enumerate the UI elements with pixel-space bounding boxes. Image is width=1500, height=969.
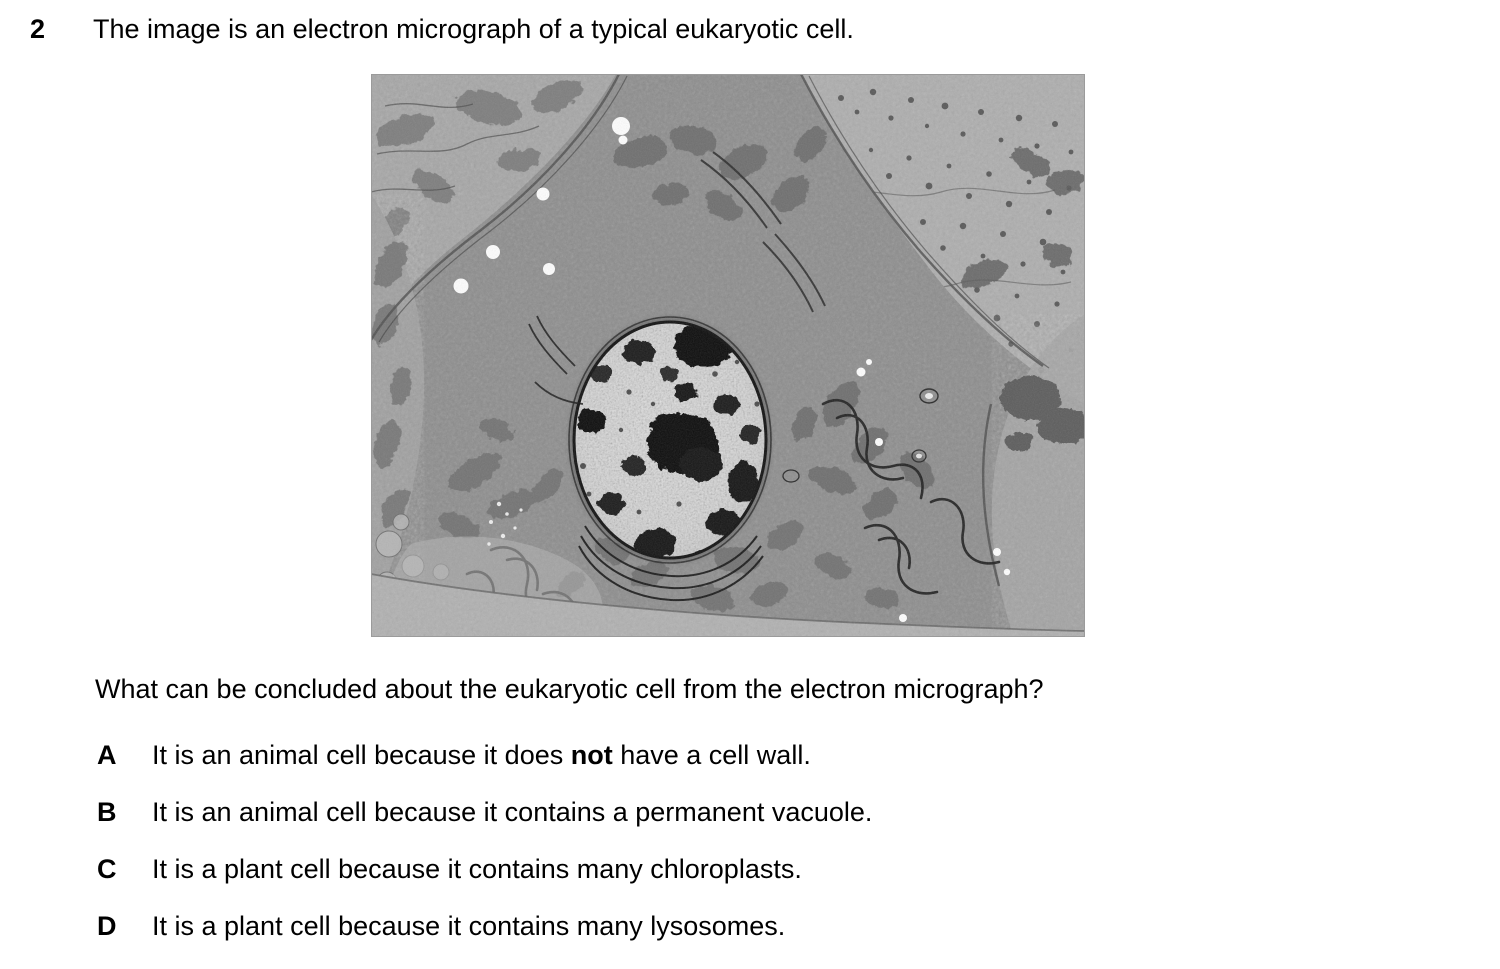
option-letter-d: D: [97, 909, 152, 943]
answer-option-d[interactable]: D It is a plant cell because it contains…: [0, 909, 1500, 966]
option-a-emphasis: not: [571, 740, 613, 770]
option-text-a: It is an animal cell because it does not…: [152, 738, 811, 772]
question-number: 2: [30, 12, 93, 46]
option-a-text-after: have a cell wall.: [613, 740, 811, 770]
answer-option-c[interactable]: C It is a plant cell because it contains…: [0, 852, 1500, 909]
option-a-text-before: It is an animal cell because it does: [152, 740, 571, 770]
answer-option-a[interactable]: A It is an animal cell because it does n…: [0, 738, 1500, 795]
option-b-text-before: It is an animal cell because it contains…: [152, 797, 872, 827]
option-text-c: It is a plant cell because it contains m…: [152, 852, 802, 886]
option-d-text-before: It is a plant cell because it contains m…: [152, 911, 785, 941]
answer-option-b[interactable]: B It is an animal cell because it contai…: [0, 795, 1500, 852]
question-stem-row: 2 The image is an electron micrograph of…: [0, 12, 1500, 48]
lead-in-question: What can be concluded about the eukaryot…: [95, 672, 1044, 706]
question-stem-text: The image is an electron micrograph of a…: [93, 12, 854, 46]
answer-options-list: A It is an animal cell because it does n…: [0, 738, 1500, 966]
micrograph-figure: [371, 74, 1085, 637]
option-text-d: It is a plant cell because it contains m…: [152, 909, 785, 943]
option-letter-b: B: [97, 795, 152, 829]
option-text-b: It is an animal cell because it contains…: [152, 795, 872, 829]
option-c-text-before: It is a plant cell because it contains m…: [152, 854, 802, 884]
option-letter-c: C: [97, 852, 152, 886]
electron-micrograph-image: [371, 74, 1085, 637]
option-letter-a: A: [97, 738, 152, 772]
